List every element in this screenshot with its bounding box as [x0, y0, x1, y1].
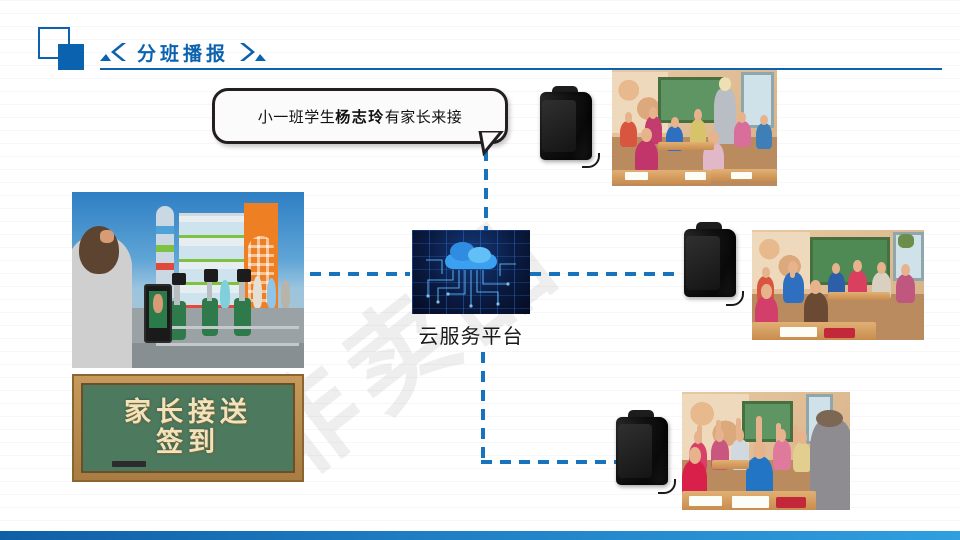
student-head	[689, 447, 701, 464]
face-recognition-terminal	[144, 284, 172, 344]
face-on-screen-icon	[153, 294, 162, 313]
classroom-notebook	[685, 172, 706, 180]
student-head	[798, 431, 807, 444]
teacher-head	[719, 77, 731, 90]
classroom-student	[896, 274, 915, 303]
gate-turnstile	[169, 301, 185, 340]
classroom-notebook	[689, 496, 723, 507]
speaker-grille	[618, 424, 652, 478]
face-recognition-screen	[149, 291, 167, 328]
speech-bubble-tail-icon	[478, 131, 504, 157]
gate-reader-screen	[204, 269, 218, 281]
classroom-notebook	[780, 327, 818, 337]
gate-pedestrian	[220, 280, 229, 308]
blackboard-line-1: 家长接送	[124, 399, 252, 427]
gate-pedestrian	[267, 278, 276, 308]
student-head	[738, 112, 746, 123]
classroom-student	[756, 123, 773, 149]
student-head	[761, 284, 772, 299]
classroom-photo-middle	[752, 230, 924, 340]
page-title: 分班播报	[137, 39, 229, 66]
classroom-desk	[712, 460, 749, 468]
classroom-photo-bottom	[682, 392, 850, 510]
student-head	[694, 109, 702, 121]
classroom-pencil-case	[824, 328, 855, 338]
header-title-row: 分班播报	[100, 38, 266, 66]
slide-canvas: 非卖品 分班播报 小一班学生杨志玲有家长来接	[0, 0, 960, 540]
classroom-notebook	[625, 172, 648, 180]
header-underline	[100, 68, 942, 70]
classroom-speaker-top	[540, 86, 592, 166]
cloud-platform-image	[412, 230, 530, 314]
student-head	[625, 112, 633, 123]
student-head	[694, 431, 703, 444]
speaker-cord	[658, 479, 677, 494]
speaker-cord	[582, 153, 601, 167]
student-head	[877, 262, 886, 274]
classroom-student	[620, 121, 637, 147]
student-head	[641, 128, 652, 143]
classroom-student	[734, 121, 751, 147]
cloud-platform-label: 云服务平台	[392, 320, 550, 349]
classroom-plant	[898, 234, 913, 247]
gate-tower-band	[156, 245, 175, 252]
student-head	[853, 260, 862, 272]
classroom-photo-top	[612, 70, 777, 186]
connector-cloud-to-bubble	[484, 150, 488, 230]
student-head	[760, 115, 768, 126]
announcement-student-name: 杨志玲	[335, 108, 385, 126]
classroom-student	[773, 439, 791, 470]
gate-pedestrian	[253, 276, 262, 308]
gate-reader-screen	[237, 269, 251, 281]
logo-filled-square-icon	[58, 44, 84, 70]
classroom-notebook	[731, 172, 752, 179]
slide-bottom-bar	[0, 531, 960, 540]
student-head	[671, 117, 679, 128]
classroom-raised-hand	[756, 416, 762, 444]
gate-parent-person	[72, 234, 132, 368]
connector-gate-to-cloud	[310, 272, 410, 276]
announcement-speech-bubble: 小一班学生杨志玲有家长来接	[212, 88, 508, 144]
gate-building-floor	[179, 246, 249, 262]
connector-cloud-to-speaker-bottom	[481, 460, 616, 464]
blackboard-eraser-icon	[112, 461, 146, 467]
parent-pickup-blackboard: 家长接送 签到	[72, 374, 304, 482]
speaker-body	[616, 417, 668, 486]
gate-parent-face	[100, 230, 114, 243]
classroom-pencil-case	[776, 497, 806, 508]
student-head	[736, 429, 745, 442]
student-head	[810, 280, 822, 295]
speaker-grille	[686, 236, 720, 290]
classroom-raised-hand	[790, 265, 795, 278]
gate-reader-screen	[172, 273, 186, 285]
classroom-speaker-middle	[684, 222, 736, 304]
classroom-speaker-bottom	[616, 410, 668, 492]
gate-railing	[156, 326, 300, 329]
announcement-prefix: 小一班学生	[258, 108, 336, 126]
speaker-cord	[726, 291, 745, 306]
school-gate-photo	[72, 192, 304, 368]
student-head	[762, 267, 770, 278]
blackboard-line-2: 签到	[156, 429, 220, 457]
connector-cloud-down	[481, 352, 485, 462]
classroom-notebook	[732, 496, 769, 508]
classroom-student	[793, 442, 811, 473]
gate-pedestrian	[281, 280, 290, 308]
speaker-body	[684, 229, 736, 298]
chevron-left-icon	[100, 42, 126, 62]
cloud-puff-right	[468, 247, 491, 264]
gate-turnstile	[234, 298, 250, 337]
classroom-raised-hand	[793, 425, 798, 444]
classroom-desk	[658, 142, 714, 150]
gate-turnstile	[202, 298, 218, 337]
student-head	[649, 107, 657, 119]
cloud-icon	[445, 242, 497, 269]
gate-building-floor	[179, 222, 249, 238]
gate-tower-band	[156, 226, 175, 233]
announcement-text: 小一班学生杨志玲有家长来接	[258, 106, 463, 127]
student-head	[715, 429, 724, 442]
connector-cloud-to-speaker-middle	[530, 272, 678, 276]
student-head	[832, 263, 840, 274]
blackboard-surface: 家长接送 签到	[81, 383, 295, 473]
student-head	[901, 264, 910, 276]
gate-railing	[156, 343, 300, 346]
gate-parent-head	[79, 226, 119, 274]
speaker-body	[540, 92, 592, 159]
student-head	[778, 429, 787, 442]
student-head	[753, 441, 766, 459]
classroom-desk	[828, 292, 890, 301]
teacher-head	[816, 410, 843, 428]
speaker-grille	[542, 100, 576, 152]
announcement-suffix: 有家长来接	[385, 108, 463, 126]
gate-tower-band	[156, 263, 175, 270]
chevron-right-icon	[240, 42, 266, 62]
